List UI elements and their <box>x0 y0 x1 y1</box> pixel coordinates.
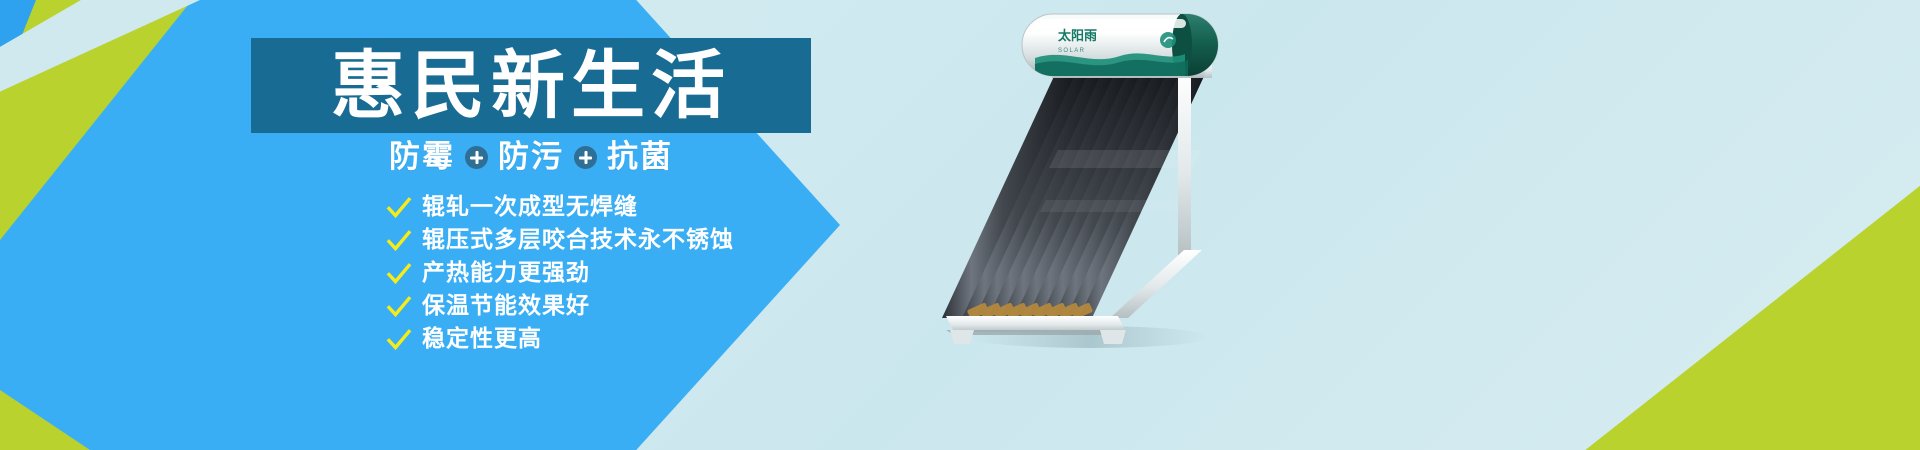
check-icon <box>386 294 412 320</box>
solar-water-heater-illustration: 太阳雨 SOLAR <box>940 0 1280 350</box>
plus-badge-icon <box>465 146 488 169</box>
feature-list: 辊轧一次成型无焊缝 辊压式多层咬合技术永不锈蚀 产热能力更强劲 保温节能效果好 <box>386 192 734 357</box>
feature-label: 稳定性更高 <box>422 328 542 351</box>
promo-banner: 惠民新生活 防霉 防污 抗菌 辊轧一次成型无焊缝 辊压式多层咬合技术永不锈蚀 <box>0 0 1920 450</box>
feature-label: 辊压式多层咬合技术永不锈蚀 <box>422 229 734 252</box>
feature-label: 辊轧一次成型无焊缝 <box>422 196 638 219</box>
feature-label: 产热能力更强劲 <box>422 262 590 285</box>
subtitle-part-1: 防霉 <box>389 142 455 173</box>
page-title: 惠民新生活 <box>331 49 731 123</box>
check-icon <box>386 195 412 221</box>
list-item: 产热能力更强劲 <box>386 258 734 289</box>
tank-brand-label: 太阳雨 <box>1057 28 1097 44</box>
water-tank: 太阳雨 SOLAR <box>1022 14 1220 78</box>
subtitle-part-2: 防污 <box>498 142 564 173</box>
list-item: 稳定性更高 <box>386 324 734 355</box>
tank-brand-sublabel: SOLAR <box>1058 48 1085 54</box>
list-item: 辊轧一次成型无焊缝 <box>386 192 734 223</box>
list-item: 辊压式多层咬合技术永不锈蚀 <box>386 225 734 256</box>
feature-label: 保温节能效果好 <box>422 295 590 318</box>
list-item: 保温节能效果好 <box>386 291 734 322</box>
subtitle-part-3: 抗菌 <box>607 142 673 173</box>
check-icon <box>386 228 412 254</box>
check-icon <box>386 327 412 353</box>
product-image: 太阳雨 SOLAR <box>940 0 1280 350</box>
title-banner-box: 惠民新生活 <box>251 38 811 133</box>
check-icon <box>386 261 412 287</box>
plus-badge-icon <box>574 146 597 169</box>
subtitle-row: 防霉 防污 抗菌 <box>251 142 811 173</box>
